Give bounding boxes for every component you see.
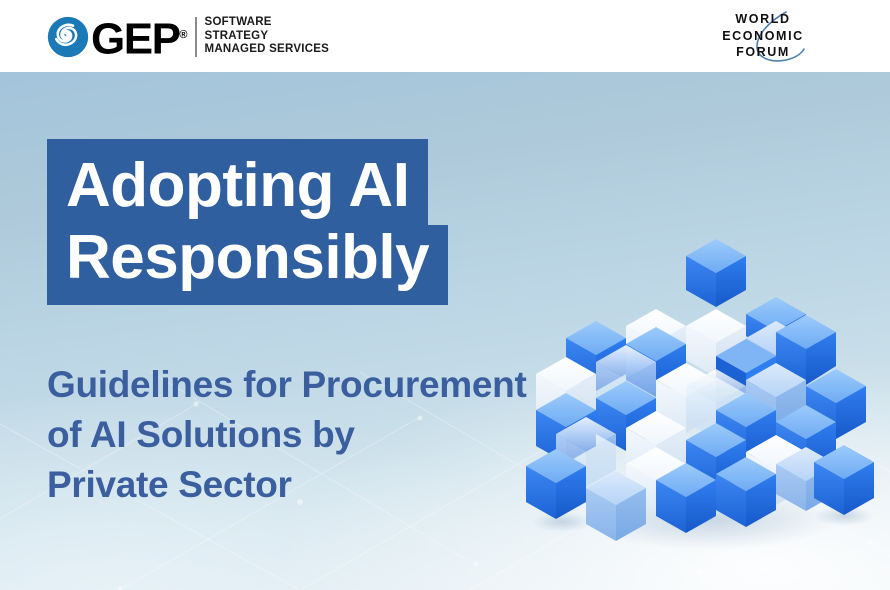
title-line-2: Responsibly <box>47 225 448 305</box>
gep-tagline-line: SOFTWARE <box>205 16 330 30</box>
logo-divider <box>195 17 197 57</box>
wef-line: WORLD <box>698 11 828 28</box>
subtitle-line: of AI Solutions by <box>47 410 526 460</box>
registered-trademark-icon: ® <box>179 29 187 41</box>
wef-line: ECONOMIC <box>698 28 828 45</box>
gep-tagline: SOFTWARE STRATEGY MANAGED SERVICES <box>205 16 330 57</box>
gep-wordmark: GEP® <box>91 14 188 61</box>
title-line-1: Adopting AI <box>47 139 428 225</box>
header-bar: GEP® SOFTWARE STRATEGY MANAGED SERVICES … <box>0 0 890 72</box>
wef-wordmark: WORLD ECONOMIC FORUM <box>698 8 828 61</box>
subtitle-line: Private Sector <box>47 460 526 510</box>
isometric-cube-cluster-illustration <box>514 234 890 564</box>
world-economic-forum-logo[interactable]: WORLD ECONOMIC FORUM <box>698 8 828 66</box>
cube <box>686 239 746 307</box>
gep-tagline-line: MANAGED SERVICES <box>205 43 330 57</box>
gep-logo[interactable]: GEP® SOFTWARE STRATEGY MANAGED SERVICES <box>47 14 329 59</box>
hero-banner: Adopting AI Responsibly Guidelines for P… <box>0 72 890 590</box>
poster-page: GEP® SOFTWARE STRATEGY MANAGED SERVICES … <box>0 0 890 590</box>
title-block: Adopting AI Responsibly <box>47 139 448 305</box>
gep-tagline-line: STRATEGY <box>205 30 330 44</box>
subtitle-line: Guidelines for Procurement <box>47 360 526 410</box>
gep-swirl-icon <box>47 16 89 58</box>
subtitle-block: Guidelines for Procurement of AI Solutio… <box>47 360 526 510</box>
cube-cluster-svg <box>514 234 890 564</box>
wef-line: FORUM <box>698 44 828 61</box>
